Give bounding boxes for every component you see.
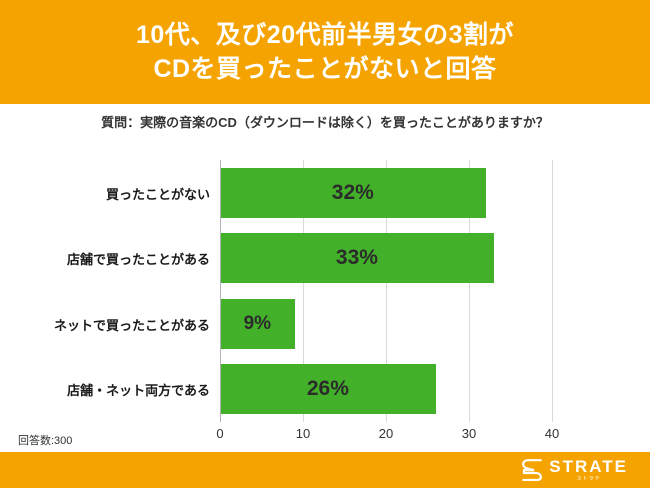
x-tick-label: 0 bbox=[216, 426, 223, 441]
question-text: 質問：実際の音楽のCD（ダウンロードは除く）を買ったことがありますか？ bbox=[0, 112, 650, 131]
bar-chart: 32%33%9%26% 買ったことがない店舗で買ったことがあるネットで買ったこと… bbox=[0, 150, 650, 440]
category-axis: 買ったことがない店舗で買ったことがあるネットで買ったことがある店舗・ネット両方で… bbox=[0, 160, 210, 422]
sample-size-note: 回答数:300 bbox=[18, 432, 72, 448]
plot-area: 32%33%9%26% bbox=[220, 160, 552, 422]
bar: 32% bbox=[220, 168, 486, 218]
infographic-page: 10代、及び20代前半男女の3割が CDを買ったことがないと回答 質問：実際の音… bbox=[0, 0, 650, 488]
x-tick-label: 10 bbox=[296, 426, 310, 441]
y-axis-line bbox=[220, 160, 221, 422]
x-tick-label: 40 bbox=[545, 426, 559, 441]
bar-value-label: 9% bbox=[244, 313, 271, 335]
x-tick-label: 30 bbox=[462, 426, 476, 441]
bar-value-label: 32% bbox=[332, 181, 374, 205]
header-title-line-1: 10代、及び20代前半男女の3割が bbox=[136, 18, 514, 52]
bar-value-label: 26% bbox=[307, 377, 349, 401]
bar-row: 33% bbox=[220, 226, 552, 292]
bar-row: 32% bbox=[220, 160, 552, 226]
strate-s-mark-icon bbox=[522, 459, 542, 481]
header-title-line-2: CDを買ったことがないと回答 bbox=[153, 52, 496, 86]
x-tick-label: 20 bbox=[379, 426, 393, 441]
category-label: ネットで買ったことがある bbox=[10, 315, 210, 334]
bar: 26% bbox=[220, 364, 436, 414]
category-label: 店舗・ネット両方である bbox=[10, 380, 210, 399]
category-label: 店舗で買ったことがある bbox=[10, 249, 210, 268]
bar-row: 26% bbox=[220, 357, 552, 423]
brand-logo: STRATE ストラテ bbox=[522, 458, 628, 482]
bar: 33% bbox=[220, 233, 494, 283]
brand-text: STRATE ストラテ bbox=[549, 458, 628, 482]
bar-value-label: 33% bbox=[336, 246, 378, 270]
header-banner: 10代、及び20代前半男女の3割が CDを買ったことがないと回答 bbox=[0, 0, 650, 104]
bar: 9% bbox=[220, 299, 295, 349]
bar-row: 9% bbox=[220, 291, 552, 357]
brand-subtitle: ストラテ bbox=[577, 477, 601, 482]
brand-name: STRATE bbox=[549, 458, 628, 475]
gridline bbox=[552, 160, 553, 422]
footer-bar: STRATE ストラテ bbox=[0, 452, 650, 488]
category-label: 買ったことがない bbox=[10, 184, 210, 203]
